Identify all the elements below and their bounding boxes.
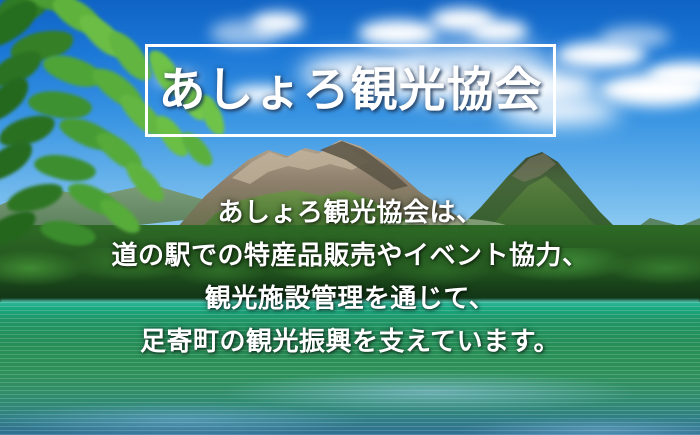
description-line-2: 道の駅での特産品販売やイベント協力、	[0, 235, 700, 278]
description-line-1: あしょろ観光協会は、	[0, 192, 700, 235]
description-line-3: 観光施設管理を通じて、	[0, 278, 700, 321]
description-text-block: あしょろ観光協会は、道の駅での特産品販売やイベント協力、観光施設管理を通じて、足…	[0, 192, 700, 364]
page-title: あしょろ観光協会	[159, 67, 543, 114]
title-frame: あしょろ観光協会	[145, 44, 556, 137]
landscape-banner: あしょろ観光協会 あしょろ観光協会は、道の駅での特産品販売やイベント協力、観光施…	[0, 0, 700, 435]
description-line-4: 足寄町の観光振興を支えています。	[0, 321, 700, 364]
leaf-cluster	[32, 151, 97, 185]
